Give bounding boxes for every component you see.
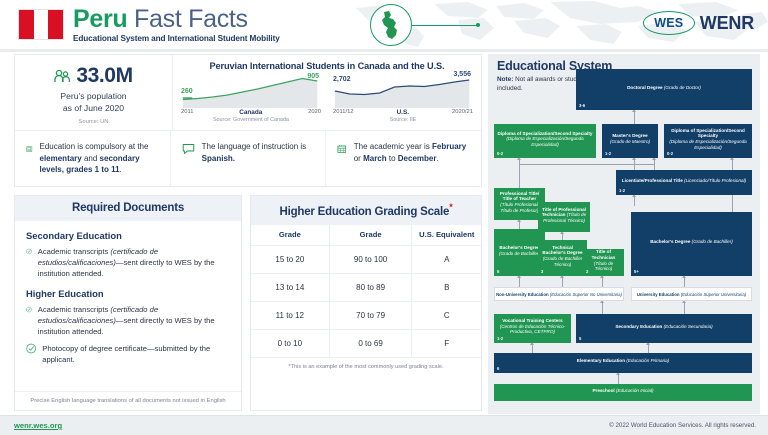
required-documents-body: Secondary Education Academic transcripts… (15, 221, 241, 391)
page-footer: wenr.wes.org © 2022 World Education Serv… (0, 415, 768, 435)
infographic-page: Peru Fast Facts Educational System and I… (0, 0, 768, 435)
stats-and-facts-panel: 33.0M Peru's population as of June 2020 … (14, 54, 482, 187)
box-bachelors-degree-navy: Bachelor's Degree (Grado de Bachiller) 5… (631, 212, 752, 276)
wes-wenr-logo: WES WENR (643, 11, 754, 35)
peru-flag (18, 9, 64, 40)
box-years: 1-2 (619, 188, 625, 193)
box-years: 1-2 (605, 151, 611, 156)
page-subtitle: Educational System and International Stu… (73, 34, 280, 43)
grading-heading-star: * (449, 202, 452, 212)
box-licentiate: Licentiate/Professional Title (Licenciad… (616, 170, 752, 195)
cell-us: C (412, 301, 481, 329)
list-item: Academic transcripts (certificado de est… (26, 246, 231, 279)
facts-row: Education is compulsory at the elementar… (15, 130, 481, 186)
divider-university-education: University Education (Educación Superior… (631, 287, 752, 301)
us-source: Source: IIE (333, 117, 473, 123)
canada-x-right: 2020 (308, 109, 321, 116)
box-label: Technical Bachelor's Degree(Grado de Bac… (541, 245, 584, 267)
column-header-us-equivalent: U.S. Equivalent (412, 225, 481, 246)
divider-label-en: Non-University Education (496, 292, 550, 297)
us-x-left: 2011/12 (333, 109, 354, 116)
us-end-label: 3,556 (453, 71, 471, 78)
box-label-es: (Educación Primaria) (626, 358, 669, 363)
grading-table-body: 15 to 20 90 to 100 A 13 to 14 80 to 89 B… (251, 245, 481, 357)
title-block: Peru Fast Facts Educational System and I… (73, 6, 280, 43)
fact-compulsory-education: Education is compulsory at the elementar… (15, 131, 171, 186)
connector (634, 110, 635, 124)
table-row: 11 to 12 70 to 79 C (251, 301, 481, 329)
table-header-row: Grade Grade U.S. Equivalent (251, 225, 481, 246)
canada-end-label: 905 (307, 73, 319, 80)
population-stat: 33.0M Peru's population as of June 2020 … (15, 55, 173, 130)
page-title: Peru Fast Facts (73, 6, 280, 32)
population-headline: 33.0M (15, 64, 172, 88)
box-label-es: (Título Profesional/ Título de Profesor) (500, 202, 539, 213)
badge-connector-line (412, 25, 478, 26)
box-years: 5 (497, 269, 499, 274)
box-years: 2 (586, 269, 588, 274)
cell-grade2: 80 to 89 (329, 273, 412, 301)
canada-chart: 260 905 2011 Canada 2020 (181, 74, 321, 123)
doc-group-title-higher: Higher Education (26, 288, 231, 299)
left-column: 33.0M Peru's population as of June 2020 … (14, 54, 482, 411)
column-header-grade-2: Grade (329, 225, 412, 246)
box-label-en: Bachelor's Degree (499, 245, 539, 250)
box-years: 0-2 (667, 151, 673, 156)
title-country: Peru (73, 5, 127, 33)
box-years: 1-2 (497, 336, 503, 341)
box-diploma-specialization-navy: Diploma of Specialization/Second Special… (664, 124, 752, 158)
box-years: 3 (541, 269, 543, 274)
connector (519, 158, 520, 188)
people-icon (54, 69, 71, 84)
box-label-en: Bachelor's Degree (650, 239, 690, 244)
box-label: Diploma of Specialization/Second Special… (497, 131, 593, 148)
box-years: 6 (497, 366, 499, 371)
footer-website-link[interactable]: wenr.wes.org (14, 421, 62, 430)
population-source: Source: UN (15, 119, 172, 125)
box-label: Vocational Training Centers(Centros de E… (497, 318, 568, 335)
box-label-en: Doctoral Degree (627, 85, 663, 90)
fact-language: The language of instruction is Spanish. (171, 131, 327, 186)
cell-grade1: 11 to 12 (251, 301, 329, 329)
box-label-es: (Diploma de Especialización/Segunda Espe… (506, 136, 583, 147)
cell-grade1: 0 to 10 (251, 329, 329, 357)
box-label-en: Diploma of Specialization/Second Special… (498, 131, 593, 136)
page-header: Peru Fast Facts Educational System and I… (0, 0, 768, 49)
note-label: Note: (497, 76, 513, 83)
badge-connector-dot (476, 23, 480, 27)
required-documents-heading: Required Documents (15, 196, 241, 221)
box-label-es: (Grado de Bachiller) (692, 239, 733, 244)
box-label-es: (Licenciado/Título Profesional) (684, 178, 746, 183)
box-label: Licentiate/Professional Title (Licenciad… (622, 178, 746, 184)
charts-row: 260 905 2011 Canada 2020 (181, 74, 473, 123)
cell-grade2: 0 to 69 (329, 329, 412, 357)
header-divider (0, 49, 768, 52)
table-row: 13 to 14 80 to 89 B (251, 273, 481, 301)
us-line-plot (333, 74, 473, 108)
grading-scale-table: Grade Grade U.S. Equivalent 15 to 20 90 … (251, 225, 481, 357)
doc-item-text-3: Photocopy of degree certificate—submitte… (42, 343, 231, 365)
box-label-en: Master's Degree (612, 133, 647, 138)
wes-logo: WES (643, 11, 695, 35)
list-item: Photocopy of degree certificate—submitte… (26, 343, 231, 365)
column-header-grade-1: Grade (251, 225, 329, 246)
box-label: Title of Professional Technician (Título… (541, 207, 587, 224)
fact-academic-year: The academic year is February or March t… (326, 131, 481, 186)
check-circle-icon (26, 343, 36, 354)
box-vocational-training-centers: Vocational Training Centers(Centros de E… (494, 314, 571, 343)
box-title-of-technician: Title of Technician(Título de Técnico) 2 (583, 249, 624, 276)
box-label-en: Elementary Education (577, 358, 625, 363)
population-desc-line2: as of June 2020 (15, 103, 172, 115)
us-axis: 2011/12 U.S. 2020/21 (333, 109, 473, 116)
population-desc-line1: Peru's population (15, 91, 172, 103)
box-label-es: (Grado de Maestro) (610, 139, 650, 144)
educational-system-panel: Educational System Note: Not all awards … (488, 54, 760, 414)
box-label: Master's Degree(Grado de Maestro) (610, 133, 650, 144)
box-label: Preschool (Educación Inicial) (592, 388, 653, 394)
divider-label-en: University Education (637, 292, 681, 297)
wenr-logo: WENR (700, 13, 754, 34)
book-icon (26, 141, 33, 157)
grading-heading-text: Higher Education Grading Scale (279, 206, 449, 218)
box-label-en: Vocational Training Centers (502, 318, 562, 323)
population-value: 33.0M (76, 64, 132, 88)
fact-compulsory-text: Education is compulsory at the elementar… (40, 141, 160, 176)
box-label: Bachelor's Degree (Grado de Bachiller) (650, 239, 733, 245)
box-label-es: (Título de Técnico) (594, 261, 613, 272)
cell-us: B (412, 273, 481, 301)
box-label-es: (Grado de Bachiller) (499, 251, 540, 256)
speech-bubble-icon (182, 141, 195, 157)
table-row: 0 to 10 0 to 69 F (251, 329, 481, 357)
bottom-row: Required Documents Secondary Education A… (14, 195, 482, 411)
table-row: 15 to 20 90 to 100 A (251, 245, 481, 273)
box-preschool: Preschool (Educación Inicial) (494, 384, 752, 401)
box-label-en: Secondary Education (615, 324, 662, 329)
cell-grade2: 70 to 79 (329, 301, 412, 329)
box-label-en: Diploma of Specialization/Second Special… (671, 128, 745, 139)
divider-non-university-education: Non-University Education (Educación Supe… (494, 287, 624, 301)
box-label: Elementary Education (Educación Primaria… (577, 358, 669, 364)
grading-scale-footnote: *This is an example of the most commonly… (251, 357, 481, 376)
canada-x-left: 2011 (181, 109, 193, 116)
cell-us: A (412, 245, 481, 273)
cell-us: F (412, 329, 481, 357)
divider-label-es: (Educación Superior No Universitaria) (550, 292, 622, 297)
box-label-es: (Diploma de Especialización/Segunda Espe… (669, 139, 746, 150)
box-diploma-specialization-green: Diploma of Specialization/Second Special… (494, 124, 596, 158)
box-years: 5 (579, 336, 581, 341)
box-years: 3-6 (579, 103, 585, 108)
box-years: 0-2 (497, 151, 503, 156)
canada-axis: 2011 Canada 2020 (181, 109, 321, 116)
required-documents-footnote: Precise English language translations of… (15, 391, 241, 410)
box-label-en: Technical Bachelor's Degree (542, 245, 582, 256)
fact-academic-year-text: The academic year is February or March t… (354, 141, 471, 176)
box-label-es: (Centros de Educación Técnico-Productiva… (500, 324, 566, 335)
box-label-en: Preschool (592, 388, 614, 393)
grading-scale-heading: Higher Education Grading Scale* (251, 196, 481, 225)
doc-group-title-secondary: Secondary Education (26, 230, 231, 241)
grading-scale-panel: Higher Education Grading Scale* Grade Gr… (250, 195, 482, 411)
cell-grade1: 13 to 14 (251, 273, 329, 301)
box-years: 5+ (634, 269, 639, 274)
peru-outline-icon (380, 10, 402, 40)
box-doctoral-degree: Doctoral Degree (Grado de Doctor) 3-6 (576, 69, 752, 110)
check-circle-icon (26, 246, 32, 257)
canada-line-plot (181, 74, 321, 108)
students-charts: Peruvian International Students in Canad… (173, 55, 481, 130)
check-circle-icon (26, 304, 32, 315)
canada-source: Source: Government of Canada (181, 117, 321, 123)
us-series-name: U.S. (397, 109, 409, 116)
box-title-professional-technician: Title of Professional Technician (Título… (538, 202, 590, 232)
divider-label-es: (Educación Superior Universitaria) (681, 292, 746, 297)
us-start-label: 2,702 (333, 76, 351, 83)
list-item: Academic transcripts (certificado de est… (26, 304, 231, 337)
canada-series-name: Canada (239, 109, 262, 116)
us-chart: 2,702 3,556 2011/12 U.S. 2020/21 (333, 74, 473, 123)
box-label-es: (Educación Inicial) (616, 388, 654, 393)
box-label: Title of Technician(Título de Técnico) (586, 249, 621, 271)
box-label-en: Title of Technician (592, 249, 616, 260)
box-technical-bachelors-degree: Technical Bachelor's Degree(Grado de Bac… (538, 240, 587, 276)
box-label: Professional Title/ Title of Teacher(Tít… (497, 191, 542, 213)
box-label-es: (Grado de Bachiller Técnico) (543, 256, 583, 267)
doc-item-text-1: Academic transcripts (certificado de est… (38, 246, 231, 279)
stats-row: 33.0M Peru's population as of June 2020 … (15, 55, 481, 130)
population-description: Peru's population as of June 2020 (15, 91, 172, 114)
box-secondary-education: Secondary Education (Educación Secundari… (576, 314, 752, 343)
box-label-es: (Grado de Doctor) (664, 85, 701, 90)
cell-grade1: 15 to 20 (251, 245, 329, 273)
box-label: Secondary Education (Educación Secundari… (615, 324, 712, 330)
box-masters-degree: Master's Degree(Grado de Maestro) 1-2 (602, 124, 658, 158)
calendar-icon (337, 141, 346, 157)
charts-title: Peruvian International Students in Canad… (181, 61, 473, 71)
box-label: Diploma of Specialization/Second Special… (667, 128, 749, 150)
box-label-en: Licentiate/Professional Title (622, 178, 683, 183)
box-label-es: (Educación Secundaria) (664, 324, 713, 329)
box-label: Bachelor's Degree(Grado de Bachiller) (499, 245, 540, 256)
title-fastfacts: Fast Facts (134, 5, 248, 33)
footer-copyright: © 2022 World Education Services. All rig… (609, 422, 756, 429)
box-elementary-education: Elementary Education (Educación Primaria… (494, 353, 752, 373)
peru-map-badge (370, 4, 412, 46)
canada-start-label: 260 (181, 88, 193, 95)
box-label: Doctoral Degree (Grado de Doctor) (627, 85, 701, 91)
us-x-right: 2020/21 (452, 109, 473, 116)
connector (519, 164, 654, 165)
box-label-en: Professional Title/ Title of Teacher (500, 191, 539, 202)
fact-language-text: The language of instruction is Spanish. (202, 141, 316, 176)
cell-grade2: 90 to 100 (329, 245, 412, 273)
doc-item-text-2: Academic transcripts (certificado de est… (38, 304, 231, 337)
required-documents-panel: Required Documents Secondary Education A… (14, 195, 242, 411)
